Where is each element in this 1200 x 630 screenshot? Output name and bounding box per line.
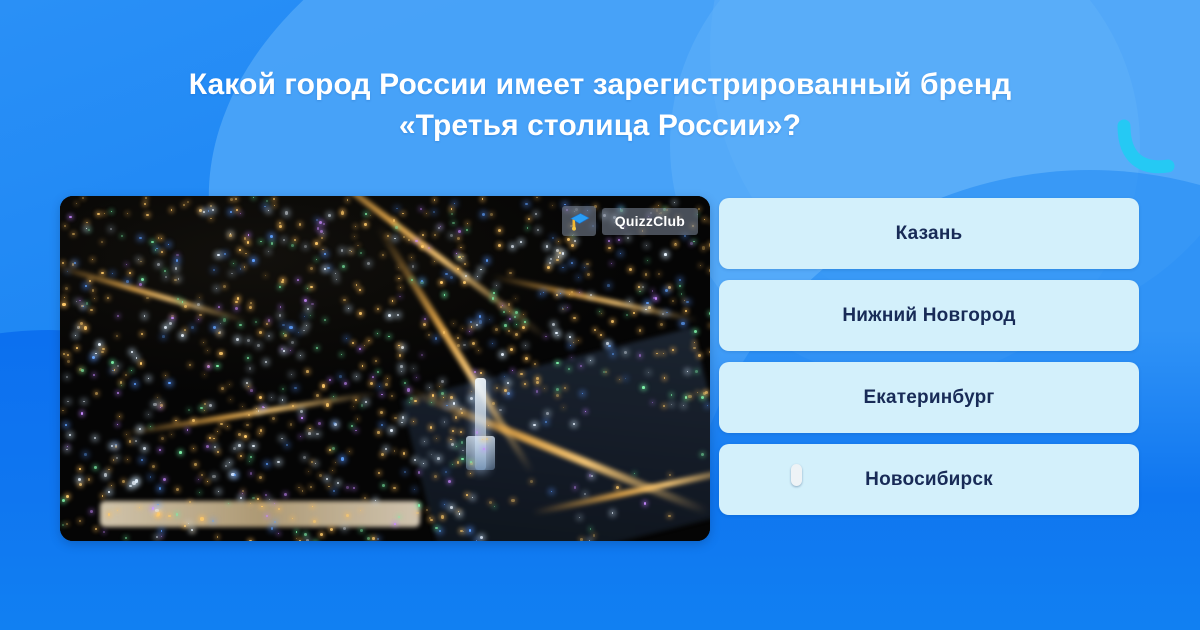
answer-option-label: Новосибирск (865, 469, 993, 491)
answer-option-1[interactable]: Казань (719, 198, 1139, 269)
question-line-2: «Третья столица России»? (90, 105, 1110, 146)
mouse-cursor (791, 464, 802, 486)
photo-city-lights (60, 196, 710, 541)
watermark-brand: QuizzClub (602, 208, 698, 235)
question-title: Какой город России имеет зарегистрирован… (0, 64, 1200, 146)
answer-option-4[interactable]: Новосибирск (719, 444, 1139, 515)
answer-option-label: Казань (896, 223, 963, 245)
answer-option-2[interactable]: Нижний Новгород (719, 280, 1139, 351)
answer-option-3[interactable]: Екатеринбург (719, 362, 1139, 433)
watermark: QuizzClub (562, 206, 698, 236)
question-image: QuizzClub (60, 196, 710, 541)
graduation-cap-icon (562, 206, 596, 236)
answer-option-label: Нижний Новгород (842, 305, 1015, 327)
answer-options-list: Казань Нижний Новгород Екатеринбург Ново… (719, 198, 1139, 515)
answer-option-label: Екатеринбург (863, 387, 994, 409)
quiz-card: Какой город России имеет зарегистрирован… (0, 0, 1200, 630)
question-line-1: Какой город России имеет зарегистрирован… (90, 64, 1110, 105)
